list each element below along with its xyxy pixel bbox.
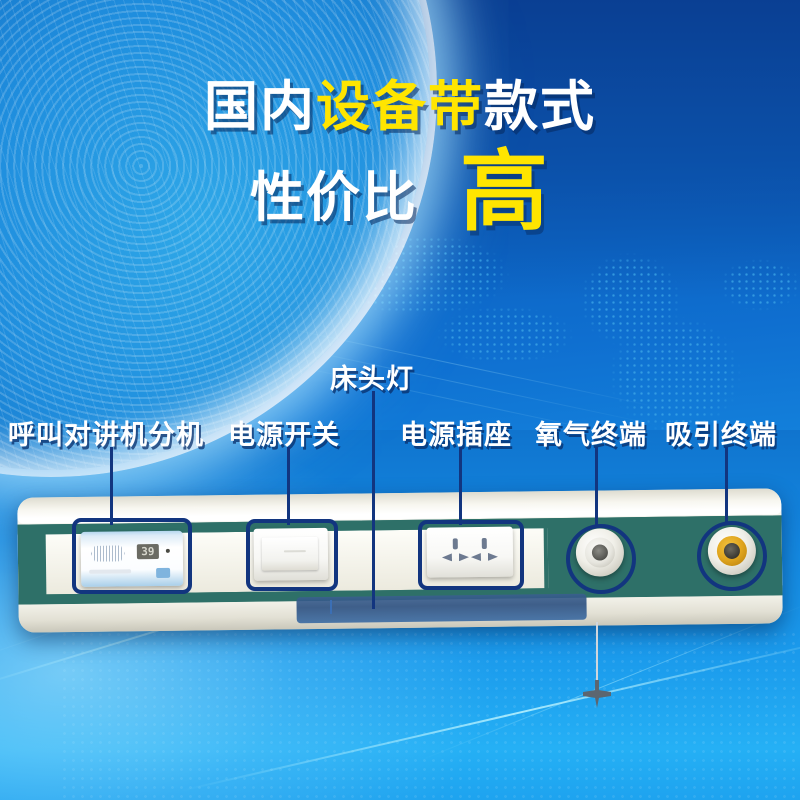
callout-label-intercom: 呼叫对讲机分机 [8, 413, 204, 452]
callout-group: 呼叫对讲机分机 电源开关 床头灯 电源插座 氧气终端 吸引终端 [0, 0, 800, 800]
callout-leader-socket [459, 447, 462, 525]
callout-leader-intercom [110, 447, 113, 525]
callout-leader-oxygen [595, 447, 598, 525]
callout-label-socket: 电源插座 [400, 413, 512, 452]
callout-label-suction: 吸引终端 [665, 413, 777, 452]
callout-label-switch: 电源开关 [228, 413, 340, 452]
callout-leader-bedlamp [372, 391, 375, 609]
callout-label-oxygen: 氧气终端 [535, 413, 647, 452]
promo-banner: 国内设备带款式 性价比 高 呼叫对讲机分机 电源开关 床头灯 电源插座 氧气终端… [0, 0, 800, 800]
callout-leader-switch [287, 447, 290, 525]
callout-leader-suction [725, 447, 728, 525]
